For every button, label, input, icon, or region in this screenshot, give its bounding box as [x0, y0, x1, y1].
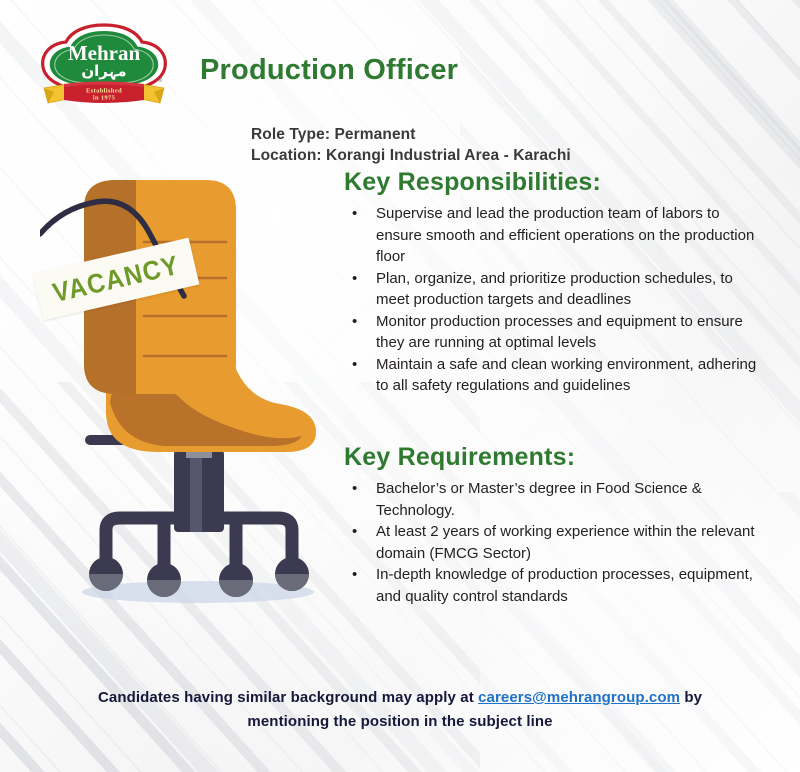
- list-item-text: In-depth knowledge of production process…: [376, 566, 753, 605]
- list-item: • Plan, organize, and prioritize product…: [344, 268, 768, 311]
- list-item-text: Bachelor’s or Master’s degree in Food Sc…: [376, 480, 702, 519]
- svg-text:Established: Established: [86, 88, 122, 95]
- apply-lead-text: Candidates having similar background may…: [98, 689, 478, 706]
- mehran-logo-icon: Mehran مہران ® Established in 1975: [38, 22, 170, 114]
- list-item: • In-depth knowledge of production proce…: [344, 564, 768, 607]
- list-item: • At least 2 years of working experience…: [344, 521, 768, 564]
- responsibilities-list: • Supervise and lead the production team…: [344, 203, 768, 397]
- svg-text:in 1975: in 1975: [93, 95, 116, 102]
- bullet-icon: •: [352, 478, 357, 500]
- list-item: • Maintain a safe and clean working envi…: [344, 354, 768, 397]
- bullet-icon: •: [352, 354, 357, 376]
- apply-instructions: Candidates having similar background may…: [0, 686, 800, 734]
- role-type-line: Role Type: Permanent: [251, 124, 571, 145]
- svg-text:®: ®: [158, 77, 163, 84]
- bullet-icon: •: [352, 521, 357, 543]
- bullet-icon: •: [352, 564, 357, 586]
- office-chair-icon: [40, 150, 360, 620]
- apply-line-1: Candidates having similar background may…: [0, 686, 800, 710]
- mehran-logo: Mehran مہران ® Established in 1975: [38, 22, 170, 114]
- section-heading-responsibilities: Key Responsibilities:: [344, 168, 768, 197]
- bullet-icon: •: [352, 311, 357, 333]
- page-title: Production Officer: [200, 54, 458, 87]
- list-item-text: Monitor production processes and equipme…: [376, 313, 743, 352]
- list-item-text: Maintain a safe and clean working enviro…: [376, 356, 756, 395]
- list-item-text: Plan, organize, and prioritize productio…: [376, 270, 733, 309]
- list-item: • Monitor production processes and equip…: [344, 311, 768, 354]
- svg-text:مہران: مہران: [81, 62, 126, 81]
- section-heading-requirements: Key Requirements:: [344, 443, 768, 472]
- bullet-icon: •: [352, 203, 357, 225]
- section-key-responsibilities: Key Responsibilities: • Supervise and le…: [344, 168, 768, 397]
- apply-trail-text: by: [680, 689, 702, 706]
- requirements-list: • Bachelor’s or Master’s degree in Food …: [344, 478, 768, 607]
- list-item-text: Supervise and lead the production team o…: [376, 205, 754, 265]
- list-item: • Bachelor’s or Master’s degree in Food …: [344, 478, 768, 521]
- office-chair-illustration: [40, 150, 360, 620]
- section-key-requirements: Key Requirements: • Bachelor’s or Master…: [344, 443, 768, 607]
- bullet-icon: •: [352, 268, 357, 290]
- apply-line-2: mentioning the position in the subject l…: [0, 710, 800, 734]
- list-item: • Supervise and lead the production team…: [344, 203, 768, 268]
- list-item-text: At least 2 years of working experience w…: [376, 523, 755, 562]
- apply-email-link[interactable]: careers@mehrangroup.com: [478, 689, 680, 706]
- job-posting-poster: Mehran مہران ® Established in 1975 Produ…: [0, 0, 800, 772]
